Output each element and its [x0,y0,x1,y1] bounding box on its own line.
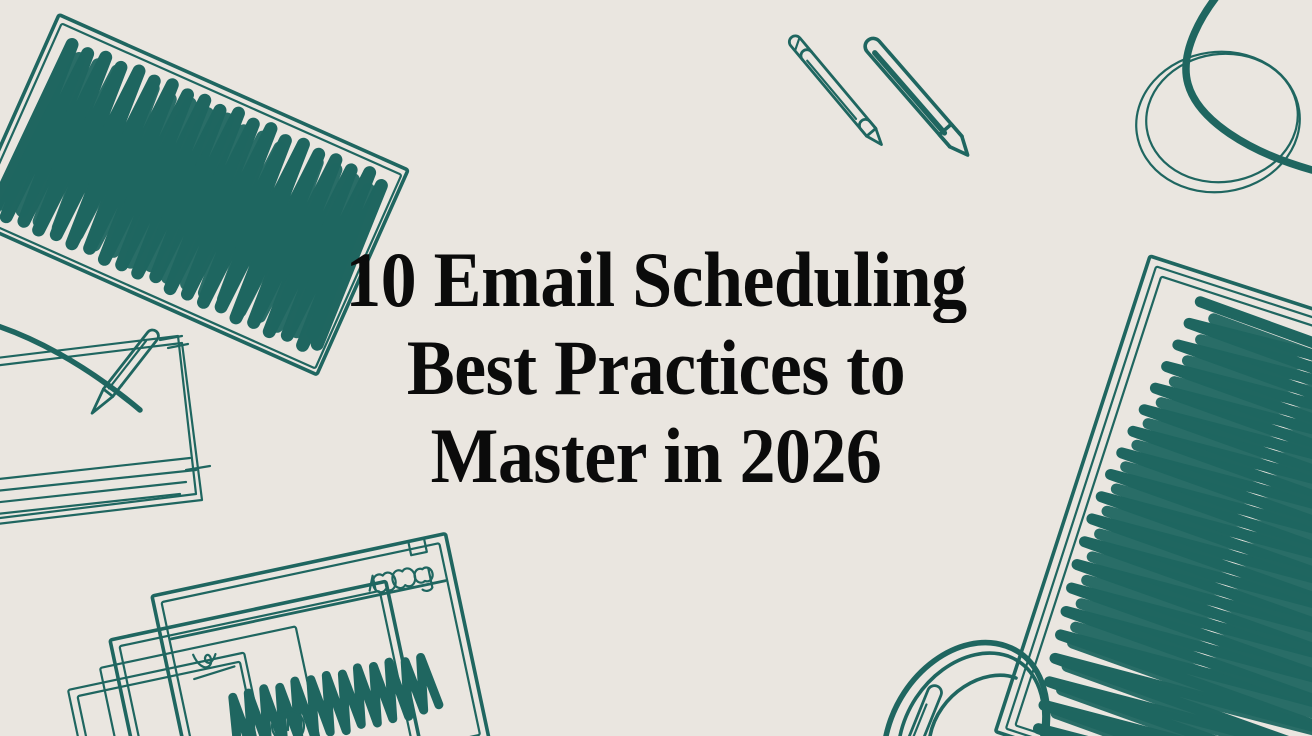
sketch-paper-left [0,336,210,526]
paper-stack-bottom-left [68,534,489,736]
cable-loop-right [1127,0,1312,203]
stylus-bottom-center [886,643,1048,736]
decorative-doodle-layer: .ln { fill:none; stroke:#1F6660; stroke-… [0,0,1312,736]
pen-pair-top-right [787,33,974,160]
scribbled-tablet-bottom-right [995,256,1312,736]
scribbled-tablet-top-left [0,15,408,375]
pen-left [0,318,210,526]
hero-graphic: .ln { fill:none; stroke:#1F6660; stroke-… [0,0,1312,736]
